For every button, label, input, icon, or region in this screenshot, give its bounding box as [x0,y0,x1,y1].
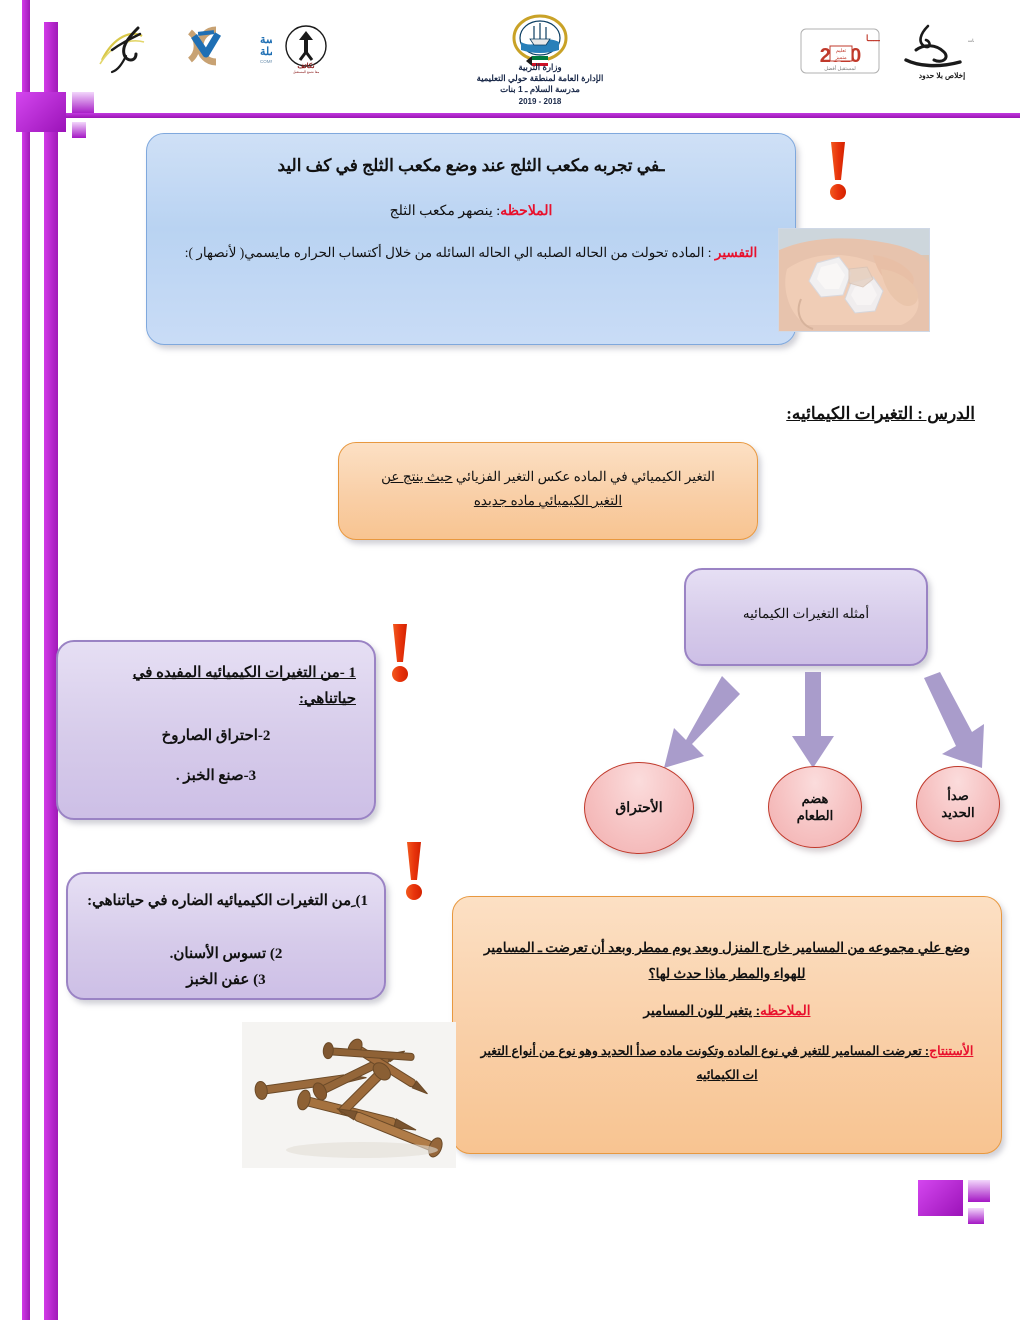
definition-line-1: التغير الكيميائي في الماده عكس التغير ال… [453,469,715,484]
worksheet-page: المدرسة الشاملة COMPREHENSIVE SCHOOL تكا… [0,0,1020,1320]
svg-text:تكاتف: تكاتف [297,62,314,70]
arrow-to-rust [920,672,990,776]
harmful-changes-item-2: 2) تسوس الأسنان. [84,944,368,963]
svg-text:مدرسة السلام 1 بنات: مدرسة السلام 1 بنات [968,38,974,44]
node-digestion: هضم الطعام [768,766,862,848]
node-rust: صدأ الحديد [916,766,1000,842]
useful-changes-item-3: 3-صنع الخبز . [76,766,356,785]
page-title: الدرس : التغيرات الكيمائيه: [786,404,975,424]
vision-2020-logo: رؤيتنـــــا 2020 تعليم متميز لمستقبل أفض… [800,28,880,74]
useful-changes-heading: 1 -من التغيرات الكيميائيه المفيده في حيا… [76,660,356,712]
definition-box: التغير الكيميائي في الماده عكس التغير ال… [338,442,758,540]
svg-text:رؤيتنـــــا: رؤيتنـــــا [866,33,880,44]
observation-text: : ينصهر مكعب الثلج [390,204,501,219]
calligraphy-left-logo [92,20,154,76]
nails-conclusion-text: : تعرضت المسامير للتغير في نوع الماده وت… [481,1044,929,1082]
ice-cubes-in-hand-photo [778,228,930,332]
harmful-changes-box: 1) ِمن التغيرات الكيميائيه الضاره في حيا… [66,872,386,1000]
kuwait-state-emblem [508,14,572,66]
sincerity-logo: مدرسة السلام 1 بنات إخلاص بلا حدود [898,20,974,82]
comprehensive-school-logo: المدرسة الشاملة COMPREHENSIVE SCHOOL [176,24,272,68]
ministry-line-1: وزارة التربية [440,62,640,73]
nails-box: وضع علي مجموعه من المسامير خارج المنزل و… [452,896,1002,1154]
definition-line-1-underlined: حيث ينتج عن [381,469,452,484]
experiment-box: ـفي تجربه مكعب الثلج عند وضع مكعب الثلج … [146,133,796,345]
useful-changes-box: 1 -من التغيرات الكيميائيه المفيده في حيا… [56,640,376,820]
svg-text:إخلاص بلا حدود: إخلاص بلا حدود [919,71,966,81]
node-combustion-label: الأحتراق [615,800,662,817]
definition-line-2: التغير الكيميائي ماده جديده [474,493,622,508]
svg-text:الشاملة: الشاملة [260,46,272,58]
node-combustion: الأحتراق [584,762,694,854]
ministry-line-3: مدرسة السلام ـ 1 بنات [440,84,640,95]
page-header: المدرسة الشاملة COMPREHENSIVE SCHOOL تكا… [0,0,1020,120]
node-digestion-label: هضم الطعام [797,790,834,824]
flowchart-root-box: أمثله التغيرات الكيمائيه [684,568,928,666]
svg-text:COMPREHENSIVE SCHOOL: COMPREHENSIVE SCHOOL [260,59,272,64]
decor-bottom-square-medium [968,1180,990,1202]
svg-text:المدرسة: المدرسة [260,34,272,46]
svg-text:تعليم: تعليم [836,48,847,54]
school-year: 2018 - 2019 [440,97,640,106]
experiment-title: ـفي تجربه مكعب الثلج عند وضع مكعب الثلج … [167,154,775,178]
nails-conclusion-label: الأستنتاج [929,1044,973,1058]
nails-question: وضع علي مجموعه من المسامير خارج المنزل و… [483,935,971,987]
exclamation-icon-1 [822,140,854,202]
observation-label: الملاحظه [500,204,552,219]
decor-bottom-square-large [918,1180,963,1216]
ministry-heading: وزارة التربية الإدارة العامة لمنطقة حولي… [440,62,640,106]
exclamation-icon-3 [398,840,430,902]
arrow-to-digestion [790,672,836,781]
decor-bottom-square-small [968,1208,984,1224]
decor-vertical-line-outer [22,0,30,1320]
explanation-text: : الماده تحولت من الحاله الصلبه الي الحا… [185,245,715,260]
explanation-label: التفسير [715,245,757,260]
svg-text:متميز: متميز [834,55,847,61]
node-rust-label: صدأ الحديد [941,787,974,821]
flowchart-root-label: أمثله التغيرات الكيمائيه [696,606,916,622]
ministry-line-2: الإدارة العامة لمنطقة حولي التعليمية [440,73,640,84]
nails-observation-label: الملاحظه [760,1003,810,1018]
svg-text:لمستقبل أفضل: لمستقبل أفضل [824,64,856,72]
decor-square-small [72,122,86,138]
nails-observation-text: : يتغير للون المسامير [644,1003,761,1018]
useful-changes-item-2: 2-احتراق الصاروخ [76,726,356,745]
harmful-changes-item-3: 3) عفن الخبز [84,970,368,989]
exclamation-icon-2 [384,622,416,684]
svg-text:معا نصنع المستقبل: معا نصنع المستقبل [293,70,320,74]
takatof-logo: تكاتف معا نصنع المستقبل [280,22,332,74]
arrow-to-combustion [652,672,742,776]
harmful-changes-heading: 1) ِمن التغيرات الكيميائيه الضاره في حيا… [84,888,368,914]
rusty-nails-photo [242,1022,456,1168]
